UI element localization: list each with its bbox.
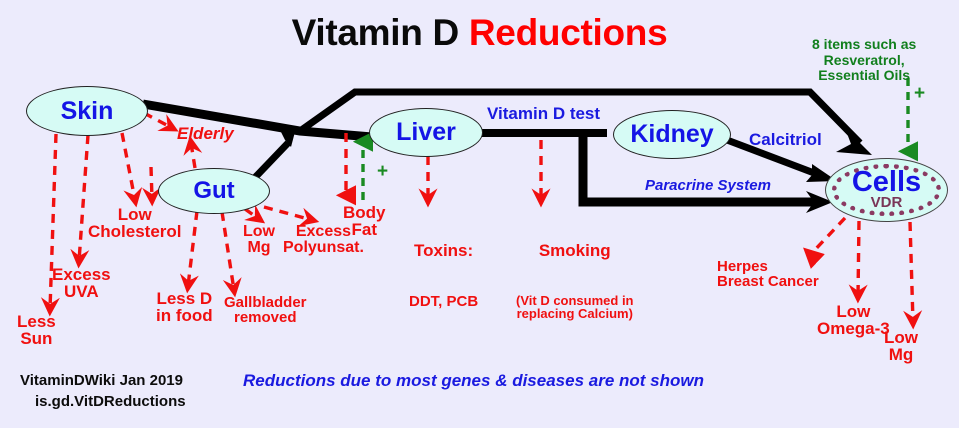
title-black-part: Vitamin D bbox=[292, 12, 469, 53]
label-toxins-title: Toxins: bbox=[409, 242, 478, 259]
label-low-cholesterol: Low Cholesterol bbox=[88, 206, 182, 241]
label-smoking: Smoking (Vit D consumed in replacing Cal… bbox=[516, 207, 634, 355]
attribution-line-2: is.gd.VitDReductions bbox=[35, 394, 186, 409]
node-cells-label: Cells bbox=[852, 169, 921, 196]
label-toxins: Toxins: DDT, PCB bbox=[409, 207, 478, 344]
title-red-part: Reductions bbox=[469, 12, 667, 53]
attribution-line-1: VitaminDWiki Jan 2019 bbox=[20, 373, 183, 388]
label-gallbladder-removed: Gallbladder removed bbox=[224, 295, 307, 326]
label-plus-cells: + bbox=[914, 84, 925, 103]
label-eight-items: 8 items such as Resveratrol, Essential O… bbox=[812, 37, 916, 84]
label-low-mg-gut: Low Mg bbox=[243, 224, 275, 257]
label-less-sun: Less Sun bbox=[17, 313, 56, 348]
label-toxins-sub: DDT, PCB bbox=[409, 294, 478, 309]
label-vitamin-d-test: Vitamin D test bbox=[487, 105, 600, 122]
node-kidney-label: Kidney bbox=[630, 120, 713, 149]
label-paracrine-system: Paracrine System bbox=[645, 178, 771, 193]
diagram-canvas: Vitamin D Reductions Skin Gut Liver Kidn… bbox=[0, 0, 959, 428]
label-low-omega-3: Low Omega-3 bbox=[817, 303, 890, 338]
node-skin-label: Skin bbox=[61, 97, 114, 126]
node-cells-sublabel: VDR bbox=[871, 194, 903, 211]
label-herpes-breast-cancer: Herpes Breast Cancer bbox=[717, 259, 819, 290]
footer-note: Reductions due to most genes & diseases … bbox=[243, 372, 704, 389]
label-body-fat: Body Fat bbox=[343, 204, 386, 239]
label-low-mg-cells: Low Mg bbox=[884, 329, 918, 364]
label-smoking-title: Smoking bbox=[516, 242, 634, 259]
label-less-d-in-food: Less D in food bbox=[156, 290, 213, 325]
node-gut-label: Gut bbox=[193, 177, 234, 205]
node-kidney[interactable]: Kidney bbox=[613, 110, 731, 159]
label-excess-uva: Excess UVA bbox=[52, 266, 111, 301]
label-calcitriol: Calcitriol bbox=[749, 131, 822, 148]
label-plus-body-fat: + bbox=[377, 162, 388, 181]
label-elderly: Elderly bbox=[177, 125, 234, 142]
node-skin[interactable]: Skin bbox=[26, 86, 148, 136]
node-liver[interactable]: Liver bbox=[369, 108, 483, 157]
label-smoking-sub: (Vit D consumed in replacing Calcium) bbox=[516, 294, 634, 321]
node-liver-label: Liver bbox=[396, 118, 456, 147]
node-cells[interactable]: Cells VDR bbox=[825, 158, 948, 222]
